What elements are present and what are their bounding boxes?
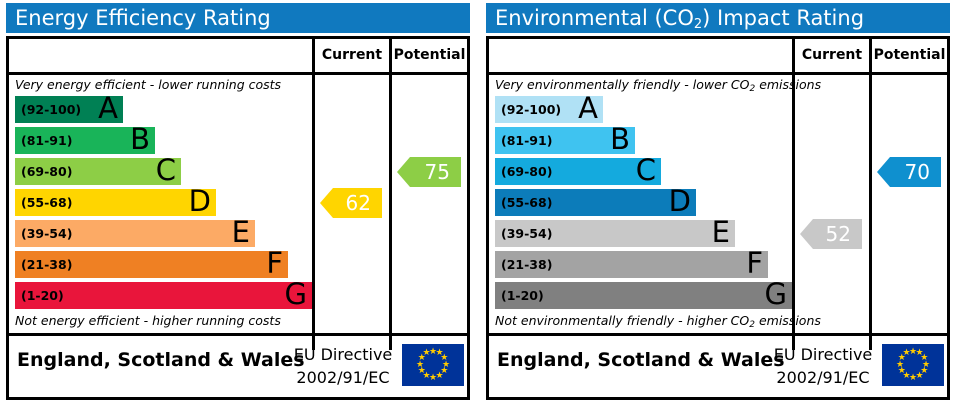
eu-flag-star-icon: ★ [422, 349, 431, 358]
co2-current-rating-arrow: 52 [800, 219, 862, 249]
energy-chart-frame: Current Potential Very energy efficient … [6, 36, 470, 400]
band-g: (1-20)G [495, 282, 792, 309]
co2-caption-top: Very environmentally friendly - lower CO… [489, 75, 792, 95]
band-letter-label: D [669, 185, 691, 217]
band-b: (81-91)B [15, 127, 155, 154]
eu-flag-star-icon: ★ [902, 349, 911, 358]
co2-caption-bottom-suffix: emissions [755, 313, 821, 328]
band-range-label: (92-100) [501, 96, 561, 123]
co2-directive-line2: 2002/91/EC [768, 366, 878, 389]
energy-caption-top: Very energy efficient - lower running co… [9, 75, 312, 95]
co2-footer-region: England, Scotland & Wales [497, 349, 785, 371]
co2-chart-header-row: Current Potential [489, 39, 947, 75]
band-letter-label: C [636, 154, 656, 186]
co2-current-column-header: Current [792, 39, 869, 72]
band-letter-label: G [765, 278, 787, 310]
band-range-label: (69-80) [501, 158, 552, 185]
band-range-label: (81-91) [21, 127, 72, 154]
band-letter-label: D [189, 185, 211, 217]
co2-directive-line1: EU Directive [768, 343, 878, 366]
band-letter-label: E [712, 216, 730, 248]
co2-caption-bottom-prefix: Not environmentally friendly - higher CO [495, 313, 749, 328]
band-range-label: (69-80) [21, 158, 72, 185]
co2-caption-top-prefix: Very environmentally friendly - lower CO [495, 77, 749, 92]
energy-divider-potential [389, 75, 392, 350]
band-range-label: (1-20) [21, 282, 64, 309]
energy-footer-region: England, Scotland & Wales [17, 349, 305, 371]
band-e: (39-54)E [495, 220, 735, 247]
co2-chart-title: Environmental (CO2) Impact Rating [486, 3, 950, 33]
band-letter-label: A [98, 92, 118, 124]
band-letter-label: C [156, 154, 176, 186]
band-letter-label: F [746, 247, 763, 279]
band-g: (1-20)G [15, 282, 312, 309]
band-b: (81-91)B [495, 127, 635, 154]
energy-current-rating-arrow: 62 [320, 188, 382, 218]
co2-chart-frame: Current Potential Very environmentally f… [486, 36, 950, 400]
co2-caption-bottom: Not environmentally friendly - higher CO… [489, 311, 792, 331]
eu-flag-icon: ★★★★★★★★★★★★ [882, 344, 944, 386]
energy-efficiency-rating-chart: Energy Efficiency Rating Current Potenti… [2, 0, 472, 404]
energy-footer-directive: EU Directive 2002/91/EC [288, 343, 398, 389]
co2-divider-potential [869, 75, 872, 350]
band-range-label: (39-54) [501, 220, 552, 247]
eu-flag-icon: ★★★★★★★★★★★★ [402, 344, 464, 386]
band-range-label: (81-91) [501, 127, 552, 154]
band-f: (21-38)F [15, 251, 288, 278]
co2-impact-rating-chart: Environmental (CO2) Impact Rating Curren… [482, 0, 952, 404]
energy-footer: England, Scotland & Wales EU Directive 2… [9, 336, 467, 397]
band-letter-label: E [232, 216, 250, 248]
co2-potential-rating-value: 70 [905, 160, 930, 184]
co2-title-suffix: ) Impact Rating [702, 6, 864, 30]
band-c: (69-80)C [15, 158, 181, 185]
band-a: (92-100)A [495, 96, 603, 123]
epc-charts-page: Energy Efficiency Rating Current Potenti… [0, 0, 957, 404]
band-letter-label: A [578, 92, 598, 124]
energy-caption-bottom: Not energy efficient - higher running co… [9, 311, 312, 331]
co2-title-subscript: 2 [694, 17, 702, 32]
band-range-label: (39-54) [21, 220, 72, 247]
band-letter-label: G [285, 278, 307, 310]
co2-potential-rating-arrow: 70 [877, 157, 941, 187]
band-a: (92-100)A [15, 96, 123, 123]
band-range-label: (21-38) [501, 251, 552, 278]
co2-title-prefix: Environmental (CO [495, 6, 694, 30]
band-d: (55-68)D [15, 189, 216, 216]
energy-band-list: (92-100)A(81-91)B(69-80)C(55-68)D(39-54)… [15, 96, 312, 310]
energy-potential-rating-value: 75 [425, 160, 450, 184]
co2-divider-current [792, 75, 795, 350]
band-range-label: (1-20) [501, 282, 544, 309]
energy-chart-header-row: Current Potential [9, 39, 467, 75]
co2-caption-top-subscript: 2 [749, 84, 755, 94]
co2-caption-top-suffix: emissions [755, 77, 821, 92]
energy-chart-title: Energy Efficiency Rating [6, 3, 470, 33]
band-letter-label: F [266, 247, 283, 279]
co2-footer: England, Scotland & Wales EU Directive 2… [489, 336, 947, 397]
energy-directive-line2: 2002/91/EC [288, 366, 398, 389]
band-letter-label: B [610, 123, 630, 155]
co2-potential-column-header: Potential [869, 39, 947, 72]
energy-directive-line1: EU Directive [288, 343, 398, 366]
band-range-label: (55-68) [501, 189, 552, 216]
energy-current-column-header: Current [312, 39, 389, 72]
band-letter-label: B [130, 123, 150, 155]
band-range-label: (21-38) [21, 251, 72, 278]
band-range-label: (55-68) [21, 189, 72, 216]
energy-potential-column-header: Potential [389, 39, 467, 72]
energy-divider-current [312, 75, 315, 350]
co2-current-rating-value: 52 [826, 222, 851, 246]
co2-caption-bottom-subscript: 2 [749, 320, 755, 330]
band-f: (21-38)F [495, 251, 768, 278]
band-e: (39-54)E [15, 220, 255, 247]
co2-band-list: (92-100)A(81-91)B(69-80)C(55-68)D(39-54)… [495, 96, 792, 310]
co2-footer-directive: EU Directive 2002/91/EC [768, 343, 878, 389]
band-range-label: (92-100) [21, 96, 81, 123]
band-d: (55-68)D [495, 189, 696, 216]
band-c: (69-80)C [495, 158, 661, 185]
energy-current-rating-value: 62 [346, 191, 371, 215]
energy-potential-rating-arrow: 75 [397, 157, 461, 187]
